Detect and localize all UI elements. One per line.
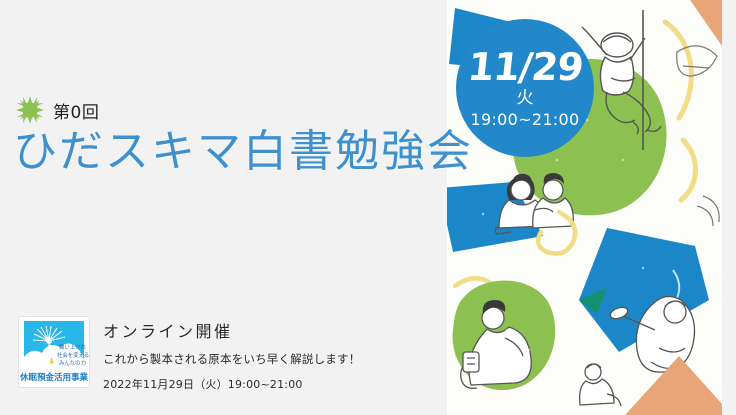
logo-line3: みんなの力 — [59, 359, 86, 367]
edition-row: 第0回 — [16, 96, 99, 124]
footer-info: 舞い上がれ 社会を変える みんなの力 休眠預金活用事業 オンライン開催 これから… — [19, 317, 360, 392]
kyumin-yokin-katsuyo-jigyo-logo: 舞い上がれ 社会を変える みんなの力 休眠預金活用事業 — [19, 317, 89, 387]
venue-label: オンライン開催 — [103, 318, 360, 342]
badge-time-range: 19:00~21:00 — [471, 112, 580, 128]
poster-canvas: 11/29 火 19:00~21:00 — [0, 0, 736, 415]
logo-line2: 社会を変える — [57, 351, 89, 359]
footer-text-block: オンライン開催 これから製本される原本をいち早く解説します！ 2022年11月2… — [103, 317, 360, 392]
event-datetime: 2022年11月29日（火）19:00~21:00 — [103, 376, 360, 392]
logo-caption: 休眠預金活用事業 — [19, 372, 88, 383]
badge-month-day: 11/29 — [466, 48, 585, 86]
date-badge: 11/29 火 19:00~21:00 — [456, 19, 594, 157]
page-title: ひだスキマ白書勉強会 — [13, 129, 473, 175]
event-description: これから製本される原本をいち早く解説します！ — [103, 351, 360, 367]
edition-label: 第0回 — [53, 98, 99, 123]
badge-day-of-week: 火 — [517, 90, 534, 107]
sun-starburst-icon — [16, 96, 44, 124]
logo-line1: 舞い上がれ — [59, 343, 87, 351]
